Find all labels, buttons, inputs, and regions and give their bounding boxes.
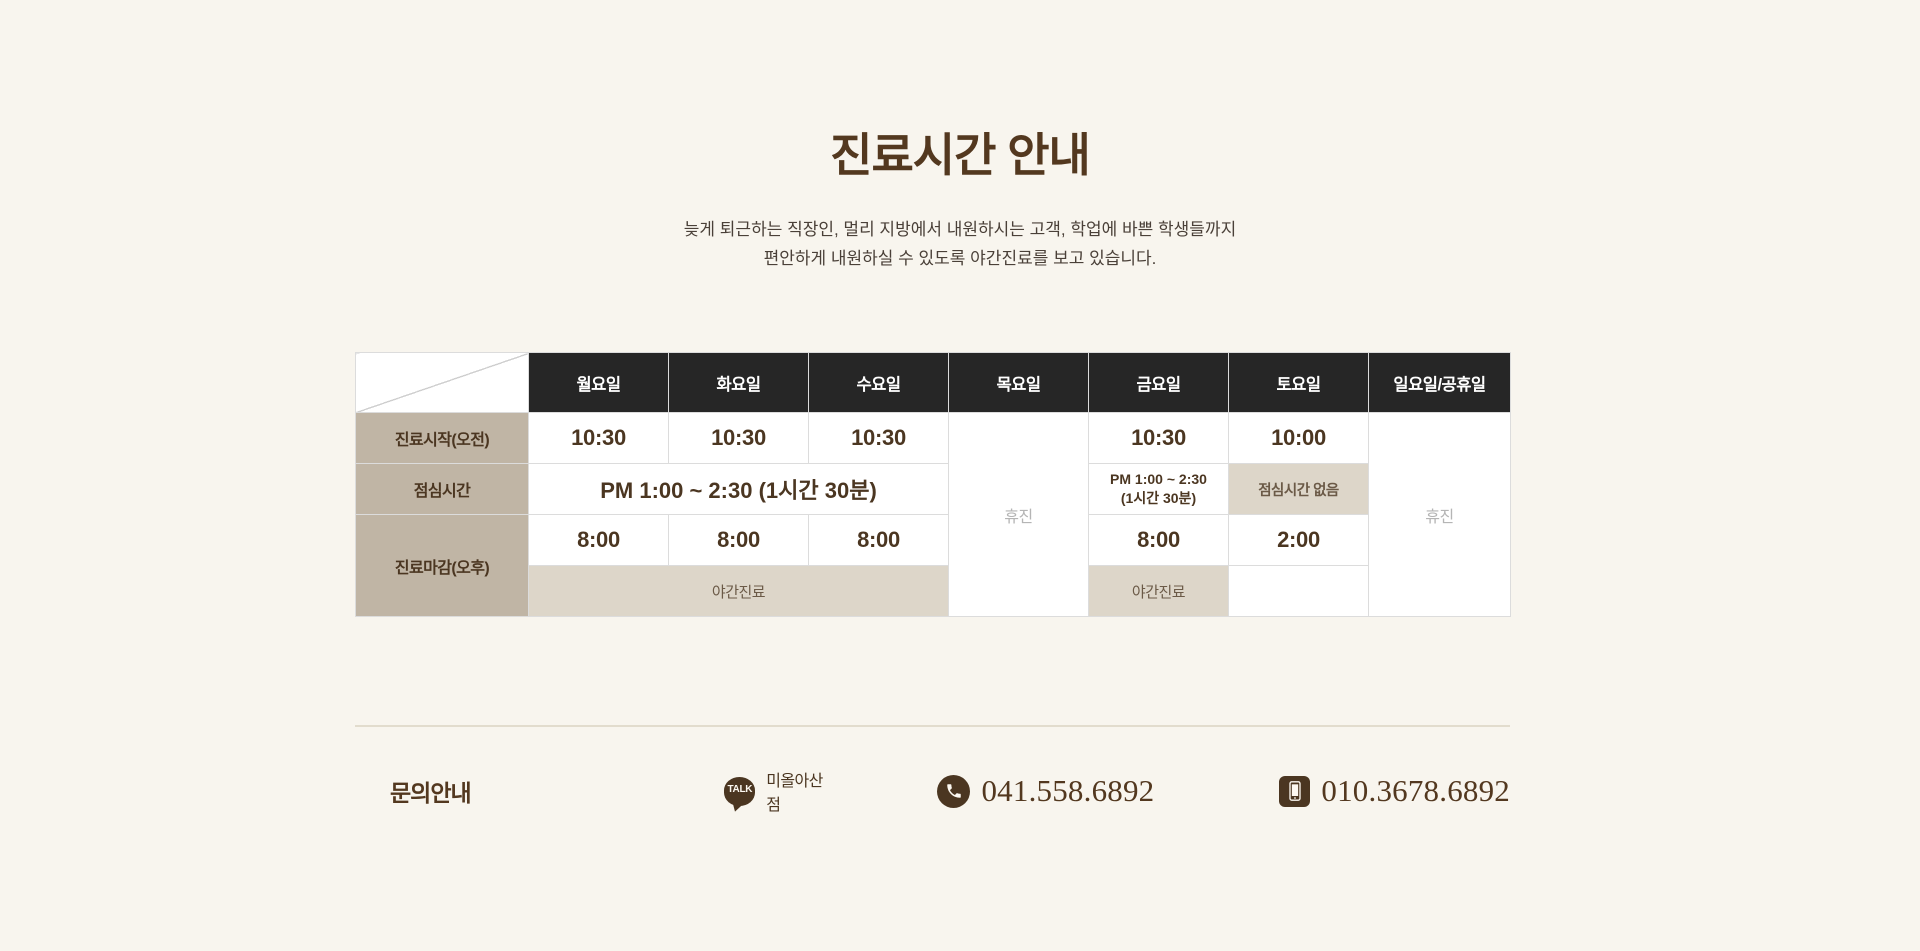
cell-closed-thu: 휴진: [949, 413, 1089, 617]
cell-start-wed: 10:30: [809, 413, 949, 464]
schedule-page: 진료시간 안내 늦게 퇴근하는 직장인, 멀리 지방에서 내원하시는 고객, 학…: [0, 0, 1920, 951]
cell-end-tue: 8:00: [669, 515, 809, 566]
page-subtitle: 늦게 퇴근하는 직장인, 멀리 지방에서 내원하시는 고객, 학업에 바쁜 학생…: [0, 215, 1920, 273]
cell-lunch-sat: 점심시간 없음: [1229, 464, 1369, 515]
mobile-phone-icon: [1279, 776, 1310, 807]
row-label-start: 진료시작(오전): [356, 413, 529, 464]
kakaotalk-icon-text: TALK: [727, 785, 752, 795]
cell-night-fri: 야간진료: [1089, 566, 1229, 617]
contact-title: 문의안내: [355, 774, 668, 808]
row-label-lunch: 점심시간: [356, 464, 529, 515]
cell-start-sat: 10:00: [1229, 413, 1369, 464]
cell-end-fri: 8:00: [1089, 515, 1229, 566]
cell-start-fri: 10:30: [1089, 413, 1229, 464]
contact-telephone[interactable]: 041.558.6892: [937, 775, 1154, 808]
schedule-table-wrapper: 월요일 화요일 수요일 목요일 금요일 토요일 일요일/공휴일 진료시작(오전)…: [355, 352, 1510, 617]
subtitle-line-2: 편안하게 내원하실 수 있도록 야간진료를 보고 있습니다.: [0, 244, 1920, 273]
day-header-fri: 금요일: [1089, 353, 1229, 413]
day-header-mon: 월요일: [529, 353, 669, 413]
day-header-thu: 목요일: [949, 353, 1089, 413]
kakao-channel-label: 미올아산점: [766, 767, 832, 815]
contact-footer: 문의안내 TALK 미올아산점 041.558.6892: [355, 756, 1510, 826]
cell-closed-sun: 휴진: [1369, 413, 1511, 617]
day-header-wed: 수요일: [809, 353, 949, 413]
hero-section: 진료시간 안내 늦게 퇴근하는 직장인, 멀리 지방에서 내원하시는 고객, 학…: [0, 0, 1920, 274]
cell-lunch-fri-line2: (1시간 30분): [1089, 489, 1228, 508]
phone-icon: [937, 775, 970, 808]
cell-start-mon: 10:30: [529, 413, 669, 464]
cell-start-tue: 10:30: [669, 413, 809, 464]
cell-night-sat-blank: [1229, 566, 1369, 617]
day-header-tue: 화요일: [669, 353, 809, 413]
schedule-table: 월요일 화요일 수요일 목요일 금요일 토요일 일요일/공휴일 진료시작(오전)…: [355, 352, 1511, 617]
cell-night-weekday: 야간진료: [529, 566, 949, 617]
cell-lunch-weekday: PM 1:00 ~ 2:30 (1시간 30분): [529, 464, 949, 515]
day-header-sat: 토요일: [1229, 353, 1369, 413]
telephone-number: 041.558.6892: [981, 775, 1154, 808]
kakaotalk-icon: TALK: [724, 777, 755, 806]
mobile-number: 010.3678.6892: [1321, 775, 1510, 808]
contact-kakao[interactable]: TALK 미올아산점: [724, 767, 832, 815]
footer-divider: [355, 725, 1510, 727]
table-row: 야간진료 야간진료: [356, 566, 1511, 617]
subtitle-line-1: 늦게 퇴근하는 직장인, 멀리 지방에서 내원하시는 고객, 학업에 바쁜 학생…: [0, 215, 1920, 244]
table-header-row: 월요일 화요일 수요일 목요일 금요일 토요일 일요일/공휴일: [356, 353, 1511, 413]
table-row: 점심시간 PM 1:00 ~ 2:30 (1시간 30분) PM 1:00 ~ …: [356, 464, 1511, 515]
row-label-end: 진료마감(오후): [356, 515, 529, 617]
cell-lunch-fri-line1: PM 1:00 ~ 2:30: [1089, 470, 1228, 489]
day-header-sun: 일요일/공휴일: [1369, 353, 1511, 413]
cell-end-mon: 8:00: [529, 515, 669, 566]
corner-diagonal-cell: [356, 353, 529, 413]
cell-lunch-fri: PM 1:00 ~ 2:30 (1시간 30분): [1089, 464, 1229, 515]
cell-end-wed: 8:00: [809, 515, 949, 566]
cell-end-sat: 2:00: [1229, 515, 1369, 566]
contact-mobile[interactable]: 010.3678.6892: [1279, 775, 1510, 808]
page-title: 진료시간 안내: [0, 128, 1920, 183]
table-row: 진료마감(오후) 8:00 8:00 8:00 8:00 2:00: [356, 515, 1511, 566]
table-row: 진료시작(오전) 10:30 10:30 10:30 휴진 10:30 10:0…: [356, 413, 1511, 464]
